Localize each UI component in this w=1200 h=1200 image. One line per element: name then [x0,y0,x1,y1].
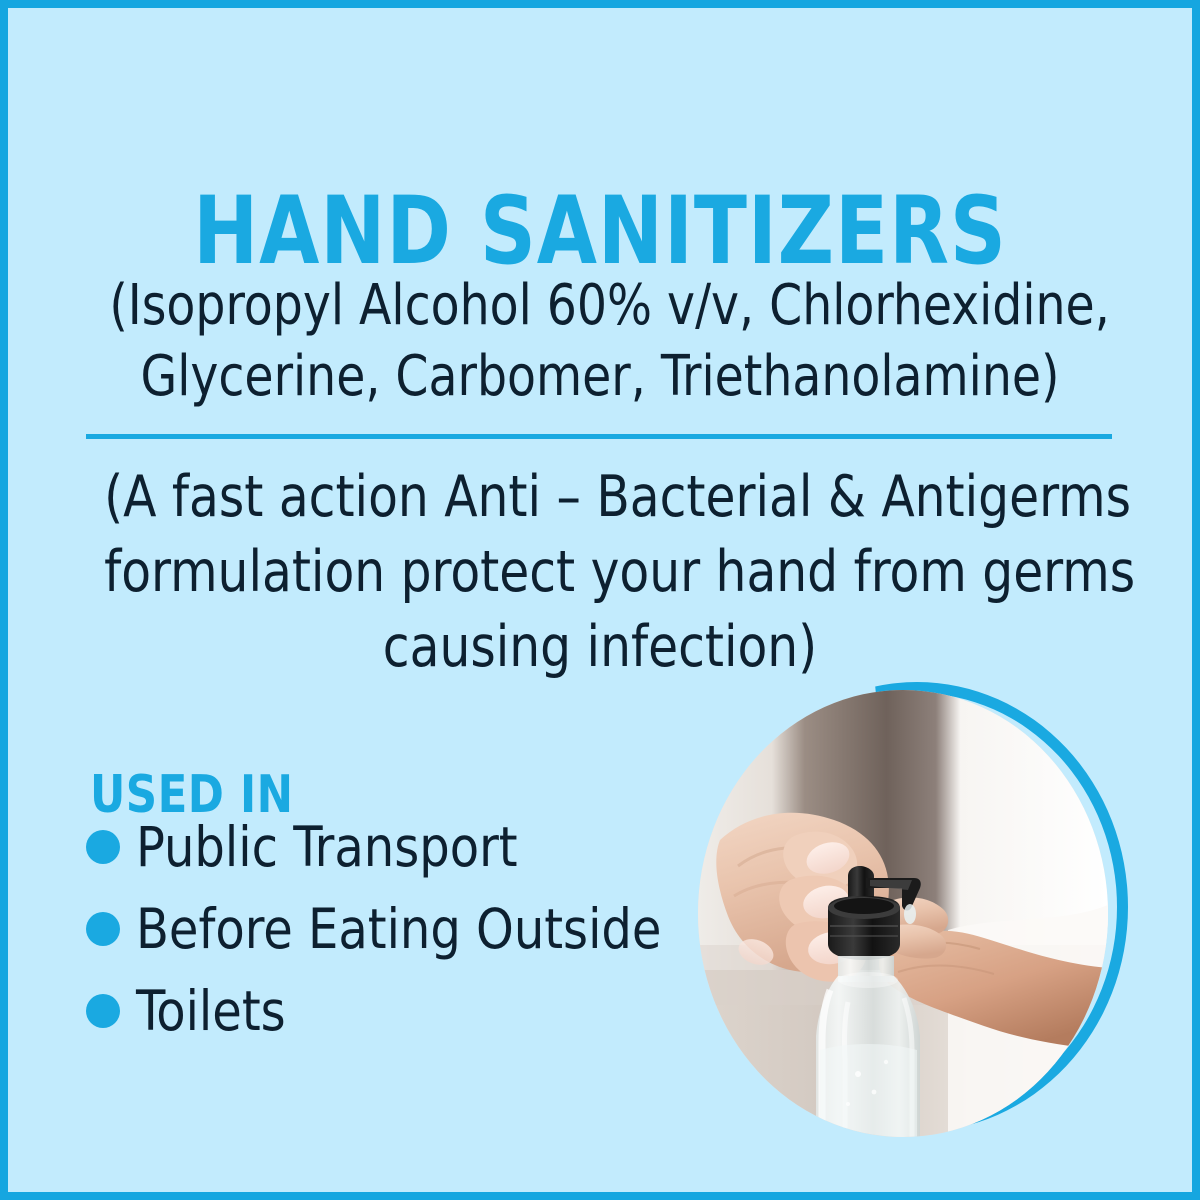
section-divider [86,434,1112,439]
bullet-dot-icon [86,912,120,946]
hand-sanitizer-poster: HAND SANITIZERS (Isopropyl Alcohol 60% v… [0,0,1200,1200]
list-item: Public Transport [84,806,704,888]
sanitizer-photo-illustration [698,690,1108,1137]
list-item-label: Public Transport [136,820,518,875]
description-line-2: formulation protect your hand from germs [104,535,1096,610]
page-title: HAND SANITIZERS [55,183,1144,282]
list-item-label: Toilets [136,984,286,1039]
bullet-dot-icon [86,830,120,864]
used-in-list: Public Transport Before Eating Outside T… [84,806,704,1052]
description-line-1: (A fast action Anti – Bacterial & Antige… [104,460,1096,535]
composition-line-1: (Isopropyl Alcohol 60% v/v, Chlorhexidin… [109,270,1090,341]
description-text: (A fast action Anti – Bacterial & Antige… [104,460,1096,686]
composition-text: (Isopropyl Alcohol 60% v/v, Chlorhexidin… [109,270,1090,412]
product-photo-wrap [698,674,1128,1144]
composition-line-2: Glycerine, Carbomer, Triethanolamine) [109,341,1090,412]
bullet-dot-icon [86,994,120,1028]
sanitizer-photo [698,690,1108,1137]
list-item: Toilets [84,970,704,1052]
list-item: Before Eating Outside [84,888,704,970]
list-item-label: Before Eating Outside [136,902,661,957]
